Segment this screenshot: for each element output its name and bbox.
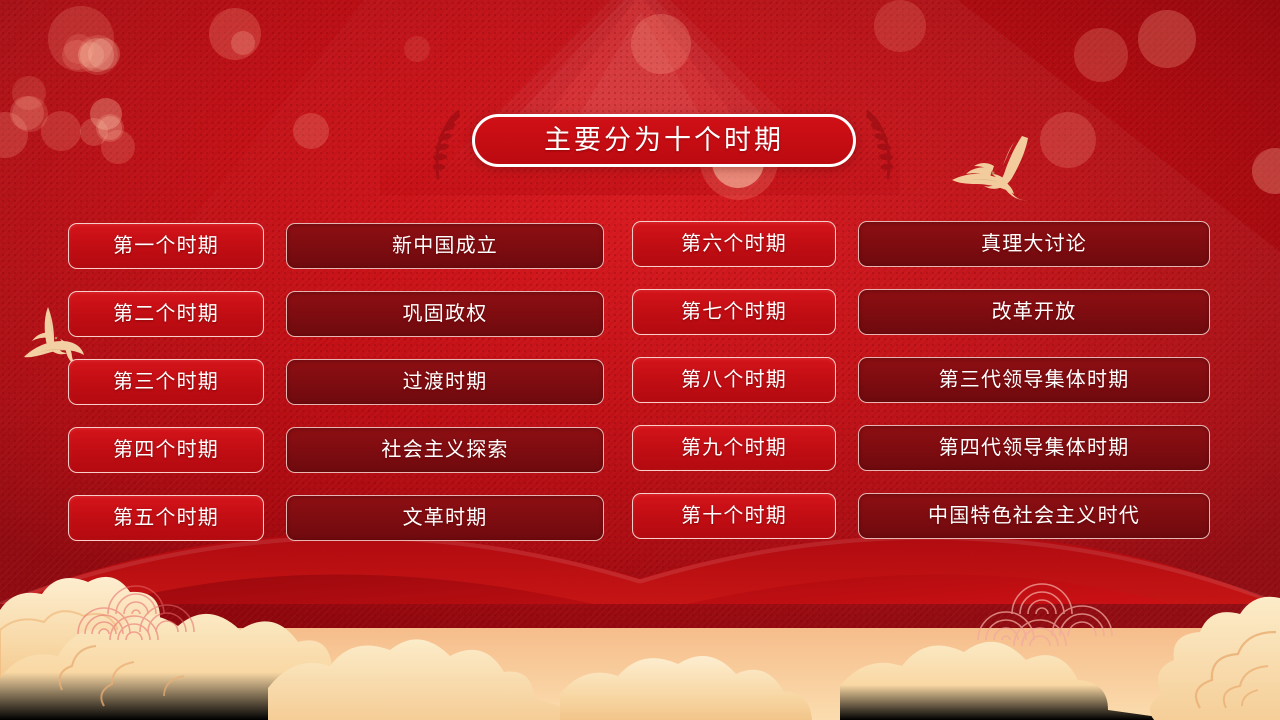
period-row: 第五个时期 文革时期 bbox=[68, 495, 604, 541]
period-row: 第八个时期 第三代领导集体时期 bbox=[632, 357, 1210, 403]
period-name-chip[interactable]: 巩固政权 bbox=[286, 291, 604, 337]
period-name-chip[interactable]: 改革开放 bbox=[858, 289, 1210, 335]
period-index-chip[interactable]: 第五个时期 bbox=[68, 495, 264, 541]
period-name-chip[interactable]: 中国特色社会主义时代 bbox=[858, 493, 1210, 539]
period-index-chip[interactable]: 第六个时期 bbox=[632, 221, 836, 267]
period-grid: 第一个时期 新中国成立 第二个时期 巩固政权 第三个时期 过渡时期 第四个时期 … bbox=[0, 0, 1280, 720]
period-row: 第六个时期 真理大讨论 bbox=[632, 221, 1210, 267]
slide-root: 主要分为十个时期 bbox=[0, 0, 1280, 720]
period-column-right: 第六个时期 真理大讨论 第七个时期 改革开放 第八个时期 第三代领导集体时期 第… bbox=[632, 221, 1210, 561]
period-index-chip[interactable]: 第七个时期 bbox=[632, 289, 836, 335]
period-index-chip[interactable]: 第三个时期 bbox=[68, 359, 264, 405]
period-index-chip[interactable]: 第四个时期 bbox=[68, 427, 264, 473]
period-name-chip[interactable]: 第四代领导集体时期 bbox=[858, 425, 1210, 471]
period-name-chip[interactable]: 真理大讨论 bbox=[858, 221, 1210, 267]
period-name-chip[interactable]: 新中国成立 bbox=[286, 223, 604, 269]
period-name-chip[interactable]: 文革时期 bbox=[286, 495, 604, 541]
period-row: 第三个时期 过渡时期 bbox=[68, 359, 604, 405]
period-row: 第四个时期 社会主义探索 bbox=[68, 427, 604, 473]
period-row: 第二个时期 巩固政权 bbox=[68, 291, 604, 337]
period-index-chip[interactable]: 第一个时期 bbox=[68, 223, 264, 269]
period-index-chip[interactable]: 第十个时期 bbox=[632, 493, 836, 539]
period-index-chip[interactable]: 第八个时期 bbox=[632, 357, 836, 403]
period-row: 第一个时期 新中国成立 bbox=[68, 223, 604, 269]
period-name-chip[interactable]: 第三代领导集体时期 bbox=[858, 357, 1210, 403]
period-row: 第九个时期 第四代领导集体时期 bbox=[632, 425, 1210, 471]
period-column-left: 第一个时期 新中国成立 第二个时期 巩固政权 第三个时期 过渡时期 第四个时期 … bbox=[68, 223, 604, 563]
period-name-chip[interactable]: 社会主义探索 bbox=[286, 427, 604, 473]
period-index-chip[interactable]: 第九个时期 bbox=[632, 425, 836, 471]
period-name-chip[interactable]: 过渡时期 bbox=[286, 359, 604, 405]
period-index-chip[interactable]: 第二个时期 bbox=[68, 291, 264, 337]
period-row: 第十个时期 中国特色社会主义时代 bbox=[632, 493, 1210, 539]
period-row: 第七个时期 改革开放 bbox=[632, 289, 1210, 335]
